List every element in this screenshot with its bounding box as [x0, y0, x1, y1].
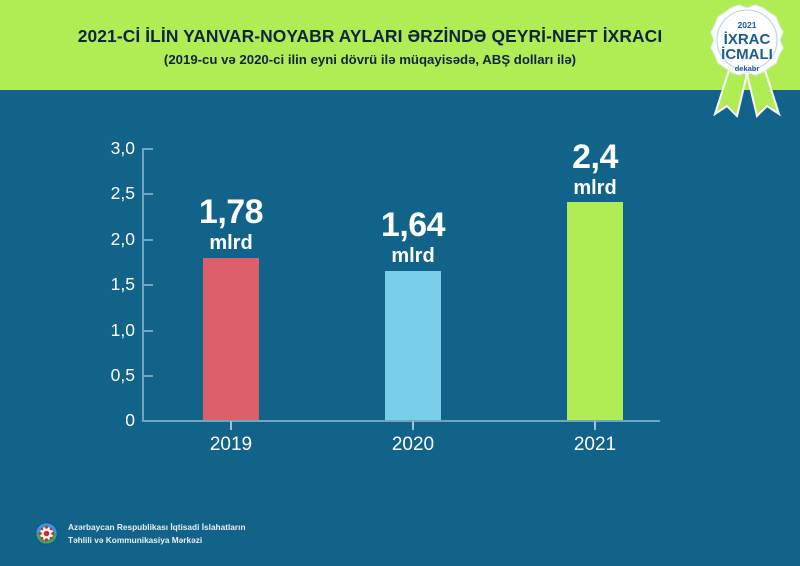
y-tick-0: [143, 420, 153, 422]
bar-value-2021: 2,4: [535, 140, 655, 174]
bar-unit-2021: mlrd: [535, 178, 655, 198]
x-axis-label-2020: 2020: [363, 434, 463, 456]
y-tick-2.0: [143, 239, 153, 241]
x-axis-label-2019: 2019: [181, 434, 281, 456]
y-axis-label-4: 2,0: [91, 229, 135, 250]
footer: Azərbaycan Respublikası İqtisadi İslahat…: [34, 521, 246, 546]
bar-value-2019: 1,78: [171, 195, 291, 229]
page-title: 2021-Cİ İLİN YANVAR-NOYABR AYLARI ƏRZİND…: [0, 26, 740, 47]
bar-unit-2020: mlrd: [353, 246, 473, 266]
bar-label-2021: 2,4 mlrd: [535, 140, 655, 198]
bar-2020[interactable]: [385, 271, 441, 420]
y-axis-label-2: 1,0: [91, 320, 135, 341]
x-axis-label-2021: 2021: [545, 434, 645, 456]
x-tick-2020: [412, 421, 414, 430]
y-tick-0.5: [143, 375, 153, 377]
y-axis-label-0: 0: [91, 410, 135, 431]
x-tick-2019: [230, 421, 232, 430]
y-tick-1.5: [143, 284, 153, 286]
bar-chart: 3,0 2,5 2,0 1,5 1,0 0,5 0 1,78 mlrd 2019…: [0, 90, 800, 490]
seal-line2: İCMALI: [721, 46, 773, 63]
y-axis-label-3: 1,5: [91, 274, 135, 295]
y-tick-3.0: [143, 148, 153, 150]
footer-org-line2: Təhlili və Kommunikasiya Mərkəzi: [68, 534, 246, 546]
azerbaijan-emblem-icon: [34, 521, 59, 546]
seal-month: dekabr: [735, 64, 760, 73]
page-subtitle: (2019-cu və 2020-ci ilin eyni dövrü ilə …: [0, 52, 740, 68]
bar-label-2020: 1,64 mlrd: [353, 208, 473, 266]
bar-label-2019: 1,78 mlrd: [171, 195, 291, 253]
seal-year: 2021: [738, 20, 757, 30]
y-axis-label-6: 3,0: [91, 138, 135, 159]
y-axis-label-1: 0,5: [91, 365, 135, 386]
y-tick-2.5: [143, 193, 153, 195]
x-axis-line: [142, 420, 660, 422]
bar-2021[interactable]: [567, 202, 623, 420]
title-block: 2021-Cİ İLİN YANVAR-NOYABR AYLARI ƏRZİND…: [0, 26, 740, 68]
footer-org-line1: Azərbaycan Respublikası İqtisadi İslahat…: [68, 521, 246, 533]
bar-2019[interactable]: [203, 258, 259, 420]
infographic-poster: 2021-Cİ İLİN YANVAR-NOYABR AYLARI ƏRZİND…: [0, 0, 800, 566]
y-tick-1.0: [143, 330, 153, 332]
bar-value-2020: 1,64: [353, 208, 473, 242]
footer-org-name: Azərbaycan Respublikası İqtisadi İslahat…: [68, 521, 246, 545]
bar-unit-2019: mlrd: [171, 233, 291, 253]
x-tick-2021: [594, 421, 596, 430]
y-axis-label-5: 2,5: [91, 183, 135, 204]
